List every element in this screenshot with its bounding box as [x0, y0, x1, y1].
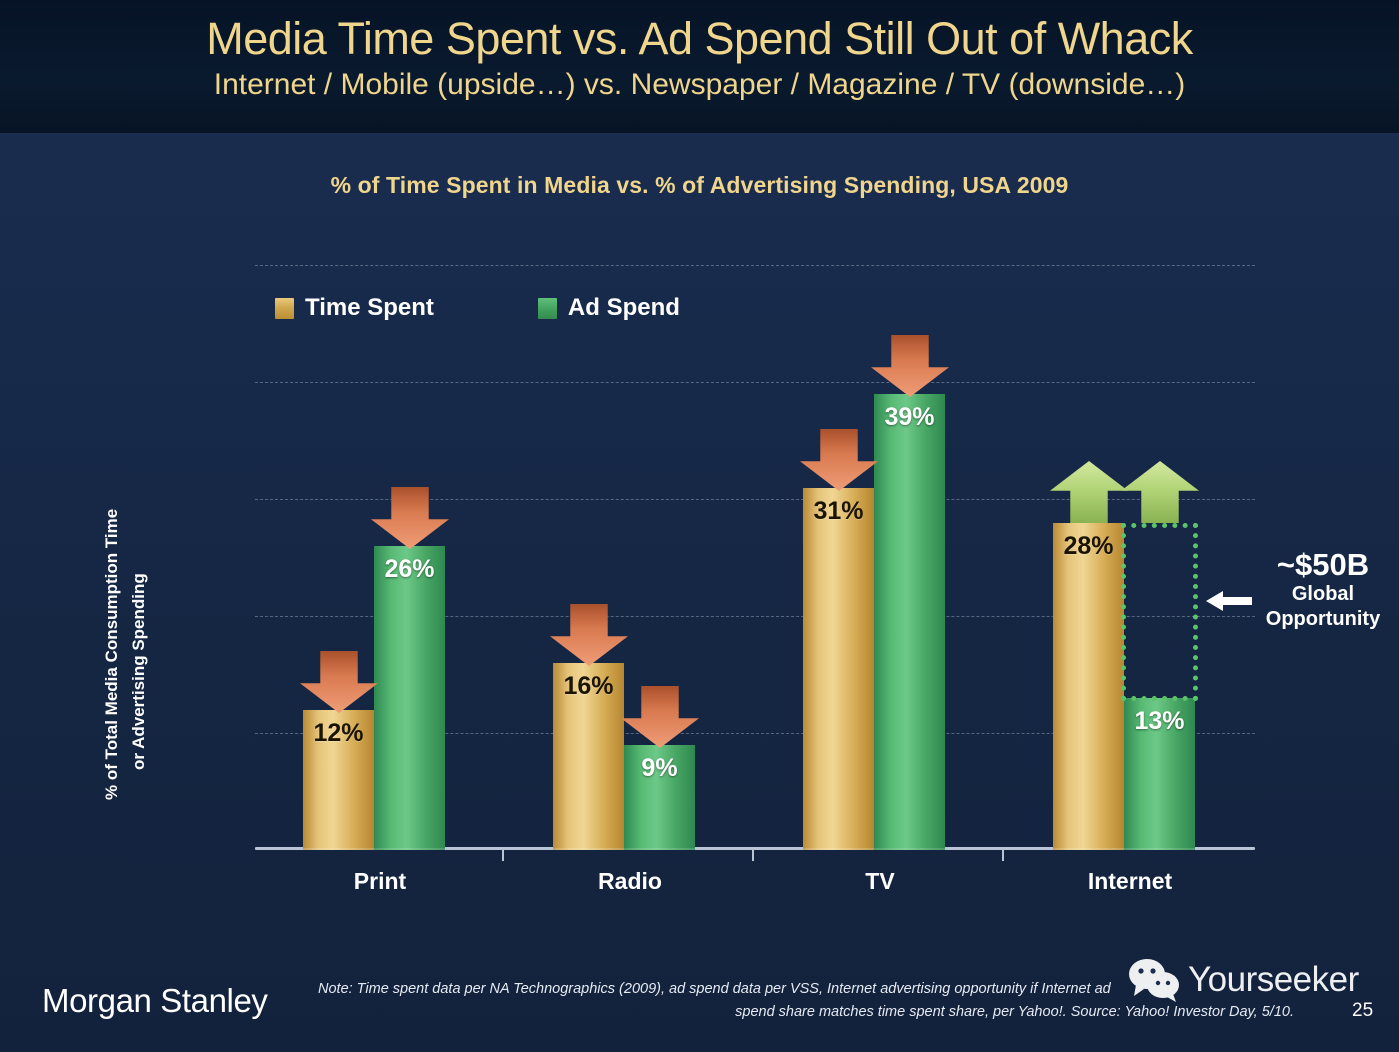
bar-internet-time-spent[interactable]: 28% [1053, 523, 1124, 850]
axis-tick-3 [1002, 850, 1004, 861]
bar-print-time-spent[interactable]: 12% [303, 710, 374, 850]
bar-value-label: 31% [803, 497, 874, 526]
y-axis-title-line2: or Advertising Spending [125, 573, 152, 770]
bar-value-label: 16% [553, 672, 624, 701]
axis-tick-2 [752, 850, 754, 861]
down-arrow-icon [371, 487, 449, 549]
legend-label: Time Spent [305, 294, 434, 322]
legend-swatch-icon [538, 298, 557, 319]
x-axis-label-tv: TV [755, 868, 1005, 895]
page-title: Media Time Spent vs. Ad Spend Still Out … [0, 0, 1399, 65]
bar-value-label: 9% [624, 754, 695, 783]
bar-tv-ad-spend[interactable]: 39% [874, 394, 945, 850]
watermark-text: Yourseeker [1188, 960, 1359, 1000]
plot-area: 50% 40% 30% 20% 10% 0% 12% 26% 16% 9% [255, 265, 1255, 850]
chart-title: % of Time Spent in Media vs. % of Advert… [0, 172, 1399, 199]
legend-item-ad-spend[interactable]: Ad Spend [538, 294, 680, 322]
chart-legend: Time Spent Ad Spend [275, 294, 680, 322]
gridline-40 [255, 382, 1255, 383]
source-note-line2: spend share matches time spent share, pe… [318, 1001, 1348, 1024]
opportunity-gap-box [1121, 523, 1198, 701]
bar-value-label: 28% [1053, 532, 1124, 561]
bar-value-label: 26% [374, 555, 445, 584]
bar-value-label: 39% [874, 403, 945, 432]
bar-tv-time-spent[interactable]: 31% [803, 488, 874, 850]
legend-swatch-icon [275, 298, 294, 319]
down-arrow-icon [550, 604, 628, 666]
callout-line3: Opportunity [1248, 609, 1398, 631]
callout-line2: Global [1248, 584, 1398, 606]
wechat-icon [1128, 958, 1182, 1002]
morgan-stanley-logo: Morgan Stanley [42, 982, 268, 1020]
bar-radio-time-spent[interactable]: 16% [553, 663, 624, 850]
up-arrow-icon [1121, 461, 1199, 523]
bar-value-label: 13% [1124, 707, 1195, 736]
x-axis-label-internet: Internet [1005, 868, 1255, 895]
slide-header: Media Time Spent vs. Ad Spend Still Out … [0, 0, 1399, 133]
callout-arrow-icon [1206, 588, 1252, 614]
bar-radio-ad-spend[interactable]: 9% [624, 745, 695, 850]
y-axis-title: % of Total Media Consumption Time or Adv… [72, 300, 132, 820]
callout-amount: ~$50B [1248, 548, 1398, 581]
axis-tick-1 [502, 850, 504, 861]
down-arrow-icon [871, 335, 949, 397]
bar-value-label: 12% [303, 719, 374, 748]
page-number: 25 [1352, 1000, 1373, 1022]
y-axis-title-line1: % of Total Media Consumption Time [98, 509, 125, 800]
up-arrow-icon [1050, 461, 1128, 523]
watermark: Yourseeker [1128, 958, 1359, 1002]
bar-print-ad-spend[interactable]: 26% [374, 546, 445, 850]
slide: Media Time Spent vs. Ad Spend Still Out … [0, 0, 1399, 1052]
opportunity-callout: ~$50B Global Opportunity [1248, 548, 1398, 631]
bar-internet-ad-spend[interactable]: 13% [1124, 698, 1195, 850]
x-axis-label-print: Print [255, 868, 505, 895]
legend-item-time-spent[interactable]: Time Spent [275, 294, 434, 322]
x-axis-label-radio: Radio [505, 868, 755, 895]
legend-label: Ad Spend [568, 294, 680, 322]
page-subtitle: Internet / Mobile (upside…) vs. Newspape… [0, 65, 1399, 103]
gridline-50 [255, 265, 1255, 266]
